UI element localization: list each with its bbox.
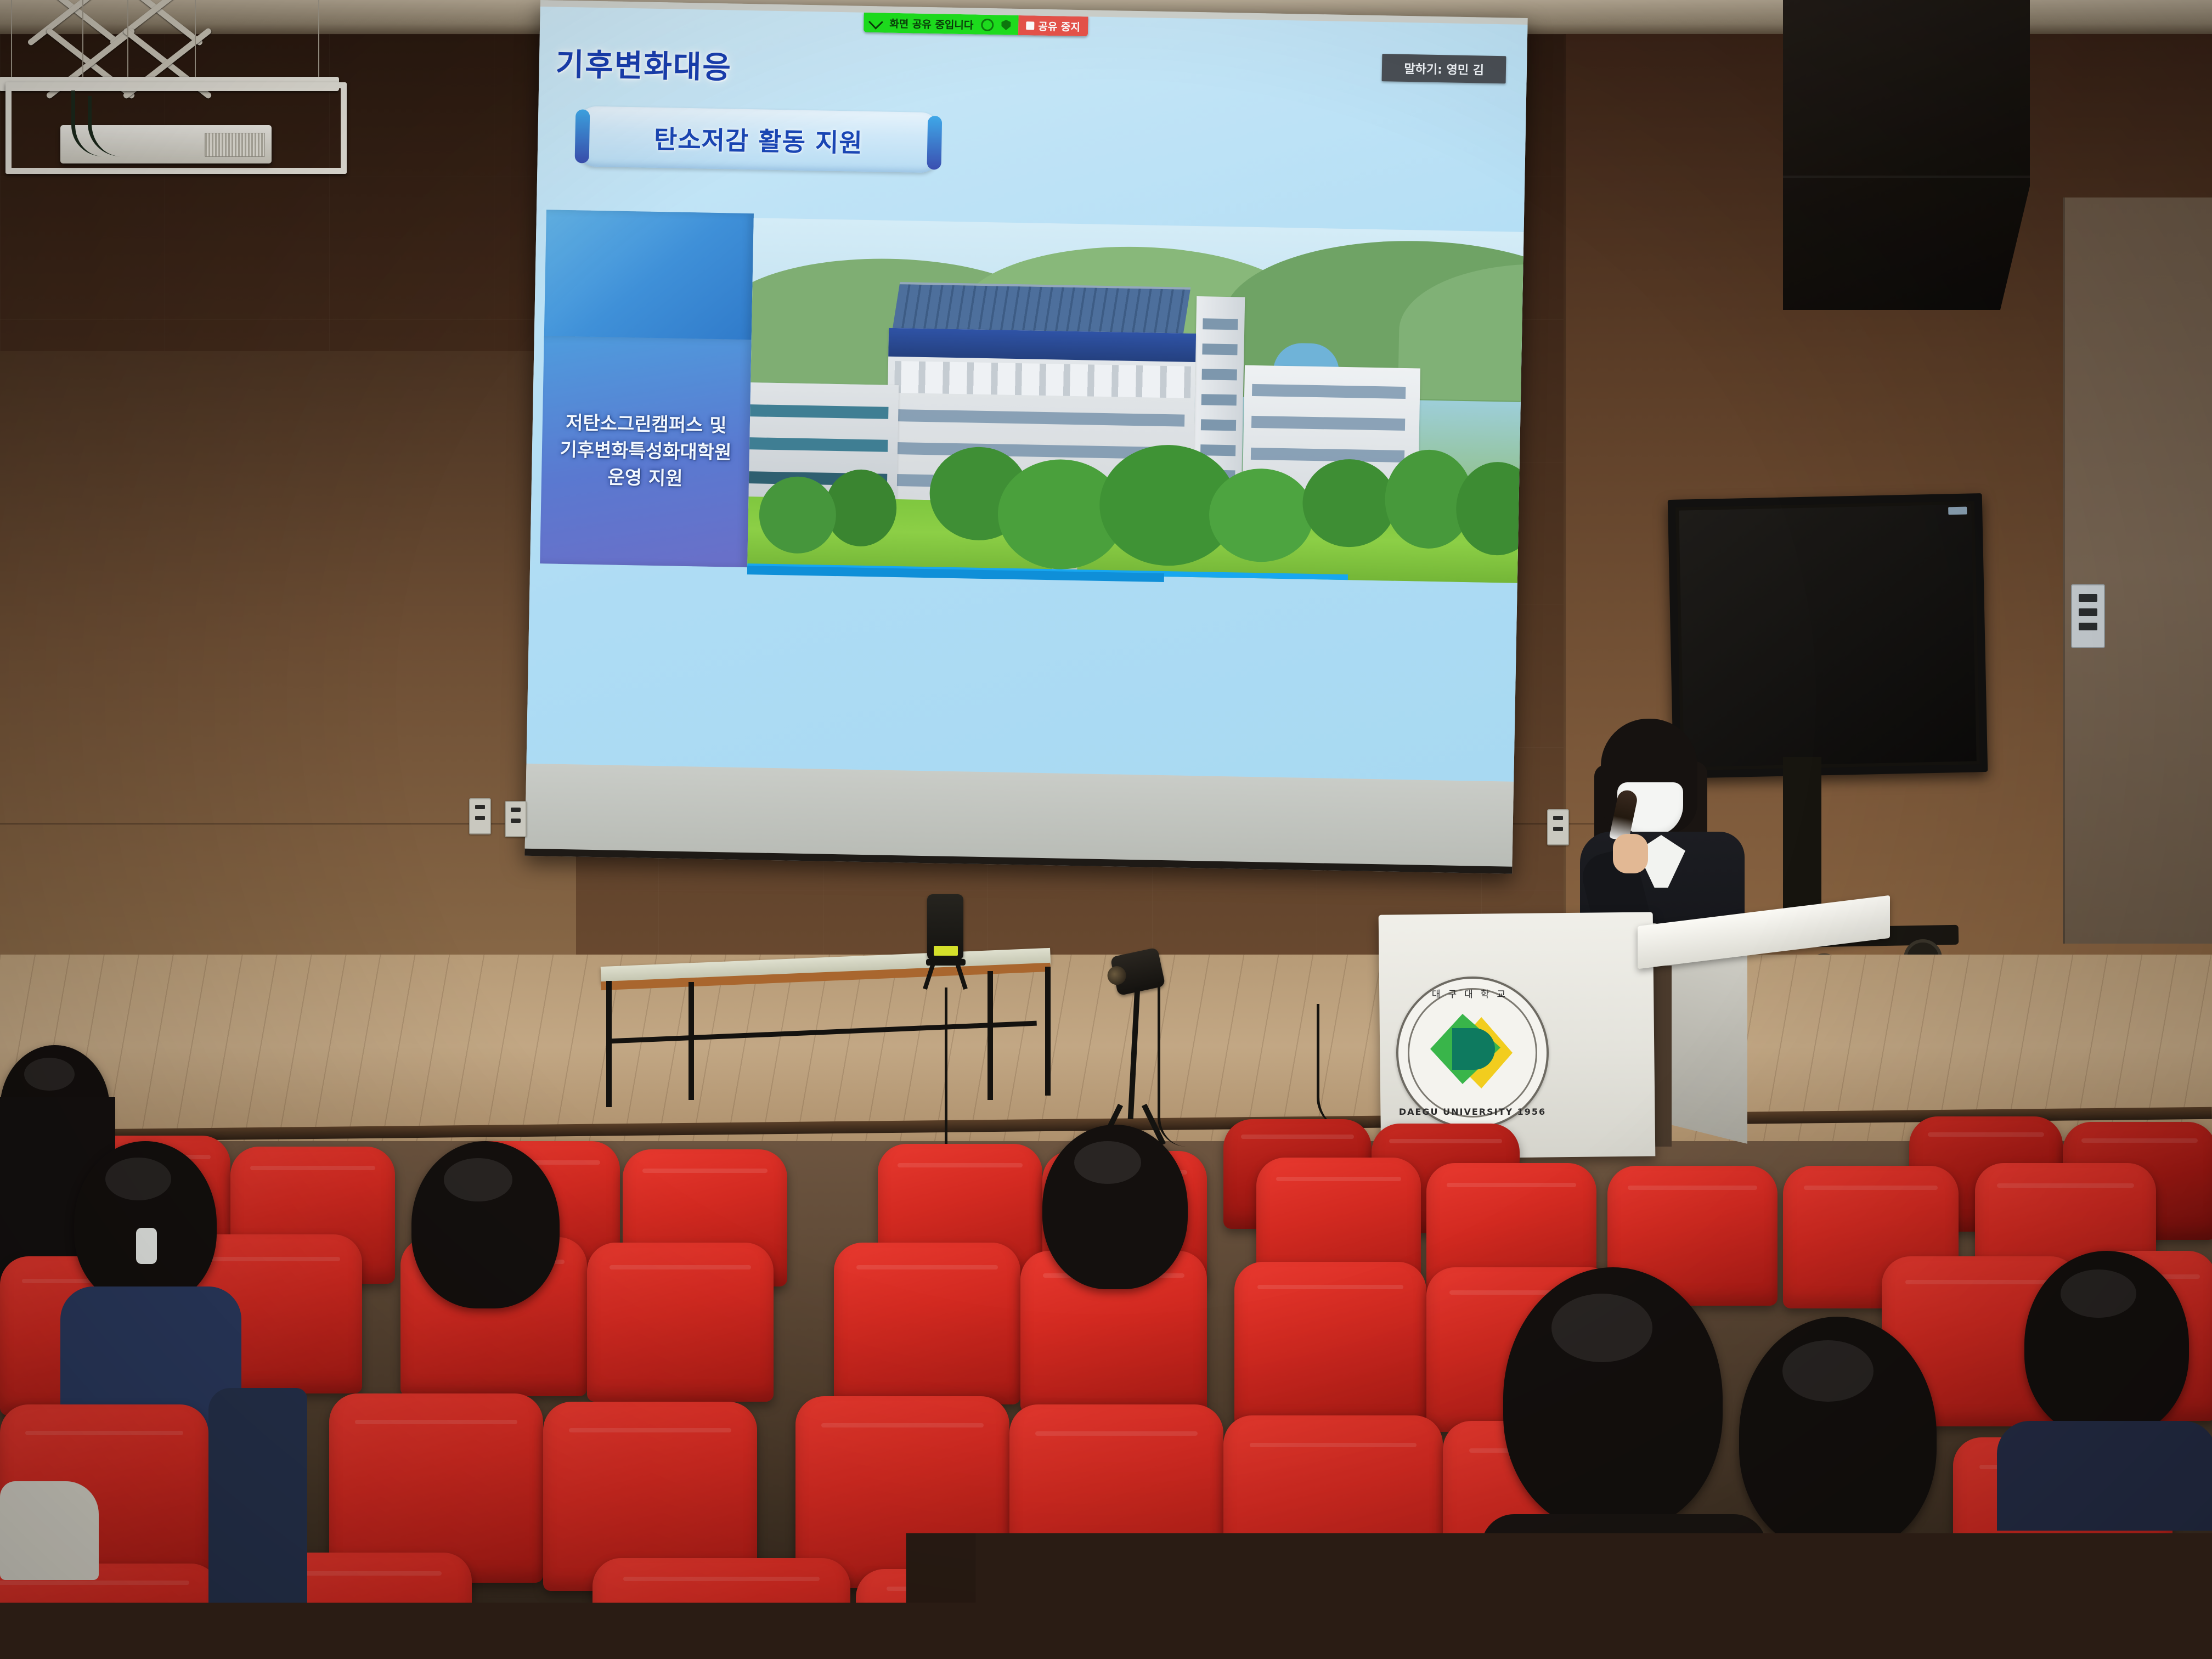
hanger-wire (195, 0, 196, 88)
audience-head (411, 1141, 560, 1308)
side-caption: 저탄소그린캠퍼스 및 기후변화특성화대학원 운영 지원 (555, 409, 736, 494)
table-leg (606, 981, 612, 1107)
share-status-label: 화면 공유 중입니다 (889, 15, 974, 32)
stop-square-icon (1026, 21, 1034, 30)
pause-circle-icon[interactable] (981, 18, 994, 31)
seat[interactable] (834, 1243, 1020, 1404)
slide-subtitle-banner: 탄소저감 활동 지원 (577, 106, 940, 173)
hanger-wire (127, 0, 128, 88)
hair-highlight (105, 1158, 171, 1200)
table-leg (689, 982, 694, 1100)
hanger-wire (82, 0, 83, 88)
cursor-arrow-icon (868, 14, 883, 29)
audience-face-mask (136, 1228, 157, 1264)
presenter-hand (1613, 834, 1648, 873)
projection-screen: 화면 공유 중입니다 공유 중지 기후변화대응 말하기: 영민 김 탄소저감 활… (524, 0, 1527, 874)
wall-outlet[interactable] (469, 798, 491, 834)
slide-left-panel-top (544, 210, 754, 351)
seat[interactable] (856, 1569, 1114, 1659)
active-speaker-badge: 말하기: 영민 김 (1382, 54, 1506, 83)
ceiling-projector-rig (5, 0, 346, 165)
logo-english-text: DAEGU UNIVERSITY 1956 (1398, 1107, 1547, 1117)
display-brand-badge (1948, 507, 1967, 515)
audience-head (2024, 1251, 2189, 1437)
hanger-wire (318, 0, 319, 88)
audience-head (1739, 1317, 1937, 1553)
audio-recorder[interactable] (927, 894, 963, 960)
share-status-pill: 화면 공유 중입니다 (864, 13, 1019, 35)
screen-blank-area (525, 764, 1514, 867)
seat[interactable] (1234, 1262, 1426, 1426)
hair-highlight (24, 1058, 75, 1091)
logo-teal-shape (1452, 1028, 1495, 1070)
equipment-cable (1317, 1004, 1358, 1130)
seat[interactable] (587, 1243, 774, 1402)
audience-head (1042, 1125, 1188, 1289)
audience-item (0, 1481, 99, 1580)
slide-title: 기후변화대응 (555, 40, 732, 88)
wall-far-right (2063, 198, 2212, 944)
side-caption-line: 운영 지원 (559, 464, 731, 494)
table-leg (988, 971, 993, 1100)
audience-head (1503, 1267, 1723, 1531)
side-caption-line: 저탄소그린캠퍼스 및 (560, 409, 732, 439)
hair-highlight (1074, 1141, 1141, 1184)
seat[interactable] (592, 1558, 850, 1659)
hair-highlight (444, 1158, 512, 1201)
logo-emblem-icon (1430, 1012, 1514, 1094)
audience-head (74, 1141, 217, 1306)
slide-left-panel-caption: 저탄소그린캠퍼스 및 기후변화특성화대학원 운영 지원 (540, 336, 752, 567)
audience-shoulders (1717, 1536, 1980, 1659)
photo-roof-band (888, 328, 1196, 362)
table-leg (1045, 967, 1051, 1096)
campus-photo (747, 218, 1523, 583)
audience-shoulders (208, 1388, 307, 1651)
photo-colonnade (894, 361, 1191, 398)
seat[interactable] (1009, 1404, 1223, 1596)
hair-highlight (1782, 1340, 1874, 1402)
screen-share-toolbar[interactable]: 화면 공유 중입니다 공유 중지 (864, 13, 1088, 36)
stop-share-label: 공유 중지 (1038, 18, 1080, 33)
wall-outlet[interactable] (505, 801, 527, 837)
projector-vent-icon (205, 133, 265, 157)
stop-share-button[interactable]: 공유 중지 (1018, 15, 1088, 36)
presentation-slide: 화면 공유 중입니다 공유 중지 기후변화대응 말하기: 영민 김 탄소저감 활… (526, 7, 1527, 782)
seat[interactable] (1180, 1580, 1443, 1659)
recorder-label-icon (934, 946, 958, 956)
wall-left-lower (0, 351, 576, 998)
slide-subtitle-text: 탄소저감 활동 지원 (654, 120, 864, 160)
logo-korean-text: 대구대학교 (1398, 986, 1547, 1000)
shield-icon[interactable] (1001, 20, 1011, 30)
side-caption-line: 기후변화특성화대학원 (560, 437, 732, 467)
wall-control-plate[interactable] (2071, 584, 2105, 648)
hair-highlight (2061, 1269, 2136, 1318)
audience-shoulders (1997, 1421, 2212, 1531)
hair-highlight (1551, 1294, 1652, 1362)
auditorium-scene: 화면 공유 중입니다 공유 중지 기후변화대응 말하기: 영민 김 탄소저감 활… (0, 0, 2212, 1659)
wall-outlet[interactable] (1547, 809, 1569, 845)
ceiling-loudspeaker (1783, 0, 2030, 310)
wall-seam (2063, 198, 2065, 944)
speaker-seam (1783, 176, 2030, 178)
equipment-cable (1158, 982, 1187, 1147)
university-logo: 대구대학교 DAEGU UNIVERSITY 1956 (1396, 977, 1549, 1129)
hanger-wire (11, 0, 12, 88)
